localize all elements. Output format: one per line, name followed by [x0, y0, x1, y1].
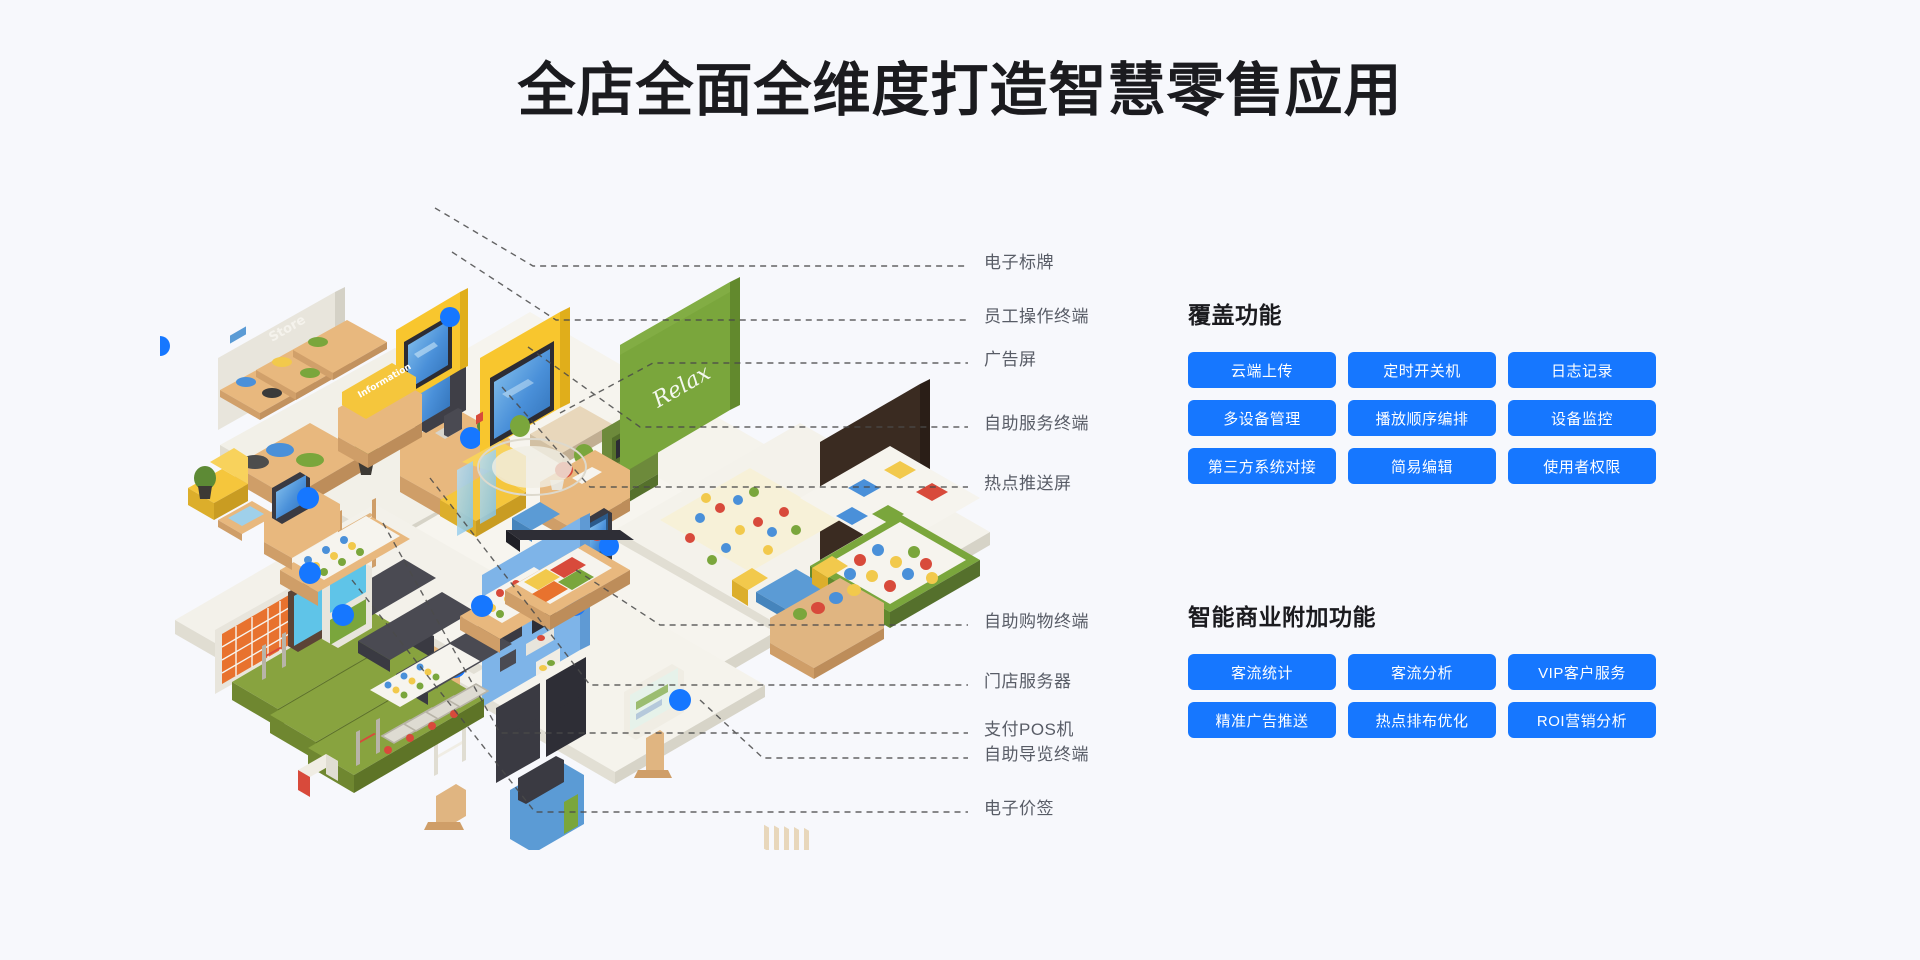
- callout-store-server[interactable]: 门店服务器: [984, 667, 1072, 692]
- callout-self-guide-terminal[interactable]: 自助导览终端: [984, 740, 1089, 765]
- panel-smart-pill-grid: 客流统计 客流分析 VIP客户服务 精准广告推送 热点排布优化 ROI营销分析: [1188, 654, 1656, 738]
- pill-cloud-upload[interactable]: 云端上传: [1188, 352, 1336, 388]
- pill-multi-device-manage[interactable]: 多设备管理: [1188, 400, 1336, 436]
- callout-self-service-terminal[interactable]: 自助服务终端: [984, 409, 1089, 434]
- pill-precise-ad-push[interactable]: 精准广告推送: [1188, 702, 1336, 738]
- pill-traffic-analysis[interactable]: 客流分析: [1348, 654, 1496, 690]
- pill-roi-marketing[interactable]: ROI营销分析: [1508, 702, 1656, 738]
- pill-traffic-statistics[interactable]: 客流统计: [1188, 654, 1336, 690]
- pill-user-permissions[interactable]: 使用者权限: [1508, 448, 1656, 484]
- callout-payment-pos[interactable]: 支付POS机: [984, 715, 1074, 740]
- pill-device-monitoring[interactable]: 设备监控: [1508, 400, 1656, 436]
- callout-advertising-screen[interactable]: 广告屏: [984, 345, 1037, 370]
- pill-simple-editing[interactable]: 简易编辑: [1348, 448, 1496, 484]
- callout-staff-terminal[interactable]: 员工操作终端: [984, 302, 1089, 327]
- pill-vip-customer-service[interactable]: VIP客户服务: [1508, 654, 1656, 690]
- pill-playback-sequence[interactable]: 播放顺序编排: [1348, 400, 1496, 436]
- callout-electronic-price-tag[interactable]: 电子价签: [984, 794, 1054, 819]
- page-root: 全店全面全维度打造智慧零售应用: [0, 0, 1920, 960]
- panel-coverage-heading: 覆盖功能: [1188, 296, 1656, 330]
- pill-scheduled-power[interactable]: 定时开关机: [1348, 352, 1496, 388]
- panel-smart-heading: 智能商业附加功能: [1188, 598, 1656, 632]
- pill-third-party-system[interactable]: 第三方系统对接: [1188, 448, 1336, 484]
- callout-hotspot-push-screen[interactable]: 热点推送屏: [984, 469, 1072, 494]
- page-title: 全店全面全维度打造智慧零售应用: [0, 58, 1920, 125]
- pill-log-record[interactable]: 日志记录: [1508, 352, 1656, 388]
- callout-electronic-signage[interactable]: 电子标牌: [984, 248, 1054, 273]
- isometric-scene-svg: Store: [160, 230, 1100, 850]
- pill-hotspot-layout-opt[interactable]: 热点排布优化: [1348, 702, 1496, 738]
- callout-self-shopping-terminal[interactable]: 自助购物终端: [984, 607, 1089, 632]
- small-price-device: [424, 784, 466, 830]
- panel-coverage-pill-grid: 云端上传 定时开关机 日志记录 多设备管理 播放顺序编排 设备监控 第三方系统对…: [1188, 352, 1656, 484]
- isometric-store-illustration: Store: [160, 230, 1100, 850]
- panel-coverage-functions: 覆盖功能 云端上传 定时开关机 日志记录 多设备管理 播放顺序编排 设备监控 第…: [1188, 296, 1656, 484]
- panel-smart-commerce-functions: 智能商业附加功能 客流统计 客流分析 VIP客户服务 精准广告推送 热点排布优化…: [1188, 598, 1656, 738]
